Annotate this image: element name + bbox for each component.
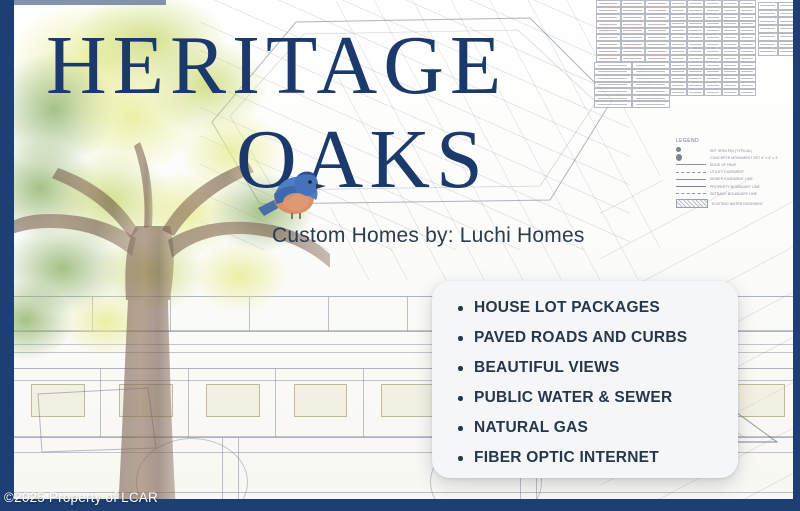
survey-table-left-strip: [594, 62, 670, 108]
features-card: HOUSE LOT PACKAGES PAVED ROADS AND CURBS…: [432, 281, 738, 478]
oak-tree-illustration: [0, 0, 330, 511]
legend-title: LEGEND: [676, 138, 792, 144]
legend-row: PROPERTY BOUNDARY LINE: [676, 183, 792, 190]
list-item: NATURAL GAS: [458, 413, 738, 443]
features-list: HOUSE LOT PACKAGES PAVED ROADS AND CURBS…: [432, 293, 738, 473]
legend-row: SETBACK BOUNDARY LINE: [676, 190, 792, 197]
water-easement-hatch-icon: [676, 199, 708, 208]
legend-row: EDGE OF PAVE: [676, 161, 792, 168]
frame-right-strip: [793, 0, 800, 511]
setback-boundary-icon: [676, 193, 706, 194]
survey-table-coordinates: [758, 2, 798, 56]
bluebird-icon: [252, 162, 328, 228]
legend-row: UTILITY EASEMENT: [676, 169, 792, 176]
listing-banner-image: LEGEND SET IRON PIN (TYPICAL) CONCRETE M…: [0, 0, 800, 511]
sewer-easement-icon: [676, 179, 706, 180]
concrete-monument-icon: [676, 154, 706, 162]
edge-of-pave-icon: [676, 164, 706, 165]
frame-top-accent: [14, 0, 166, 5]
property-boundary-icon: [676, 186, 706, 187]
legend-row: SEWER EASEMENT LINE: [676, 176, 792, 183]
survey-table-curve-data: [596, 0, 670, 62]
copyright-watermark: ©2025 Property of LCAR: [4, 490, 158, 505]
list-item: HOUSE LOT PACKAGES: [458, 293, 738, 323]
list-item: BEAUTIFUL VIEWS: [458, 353, 738, 383]
list-item: FIBER OPTIC INTERNET: [458, 443, 738, 473]
legend-row: EXISTING WATER EASEMENT: [676, 200, 792, 207]
plat-legend: LEGEND SET IRON PIN (TYPICAL) CONCRETE M…: [676, 138, 792, 222]
list-item: PAVED ROADS AND CURBS: [458, 323, 738, 353]
frame-left-strip: [0, 0, 14, 511]
survey-table-line-data: [670, 0, 756, 96]
list-item: PUBLIC WATER & SEWER: [458, 383, 738, 413]
legend-row: CONCRETE MONUMENT SET 4" x 4" x 3': [676, 154, 792, 161]
utility-easement-icon: [676, 172, 706, 173]
